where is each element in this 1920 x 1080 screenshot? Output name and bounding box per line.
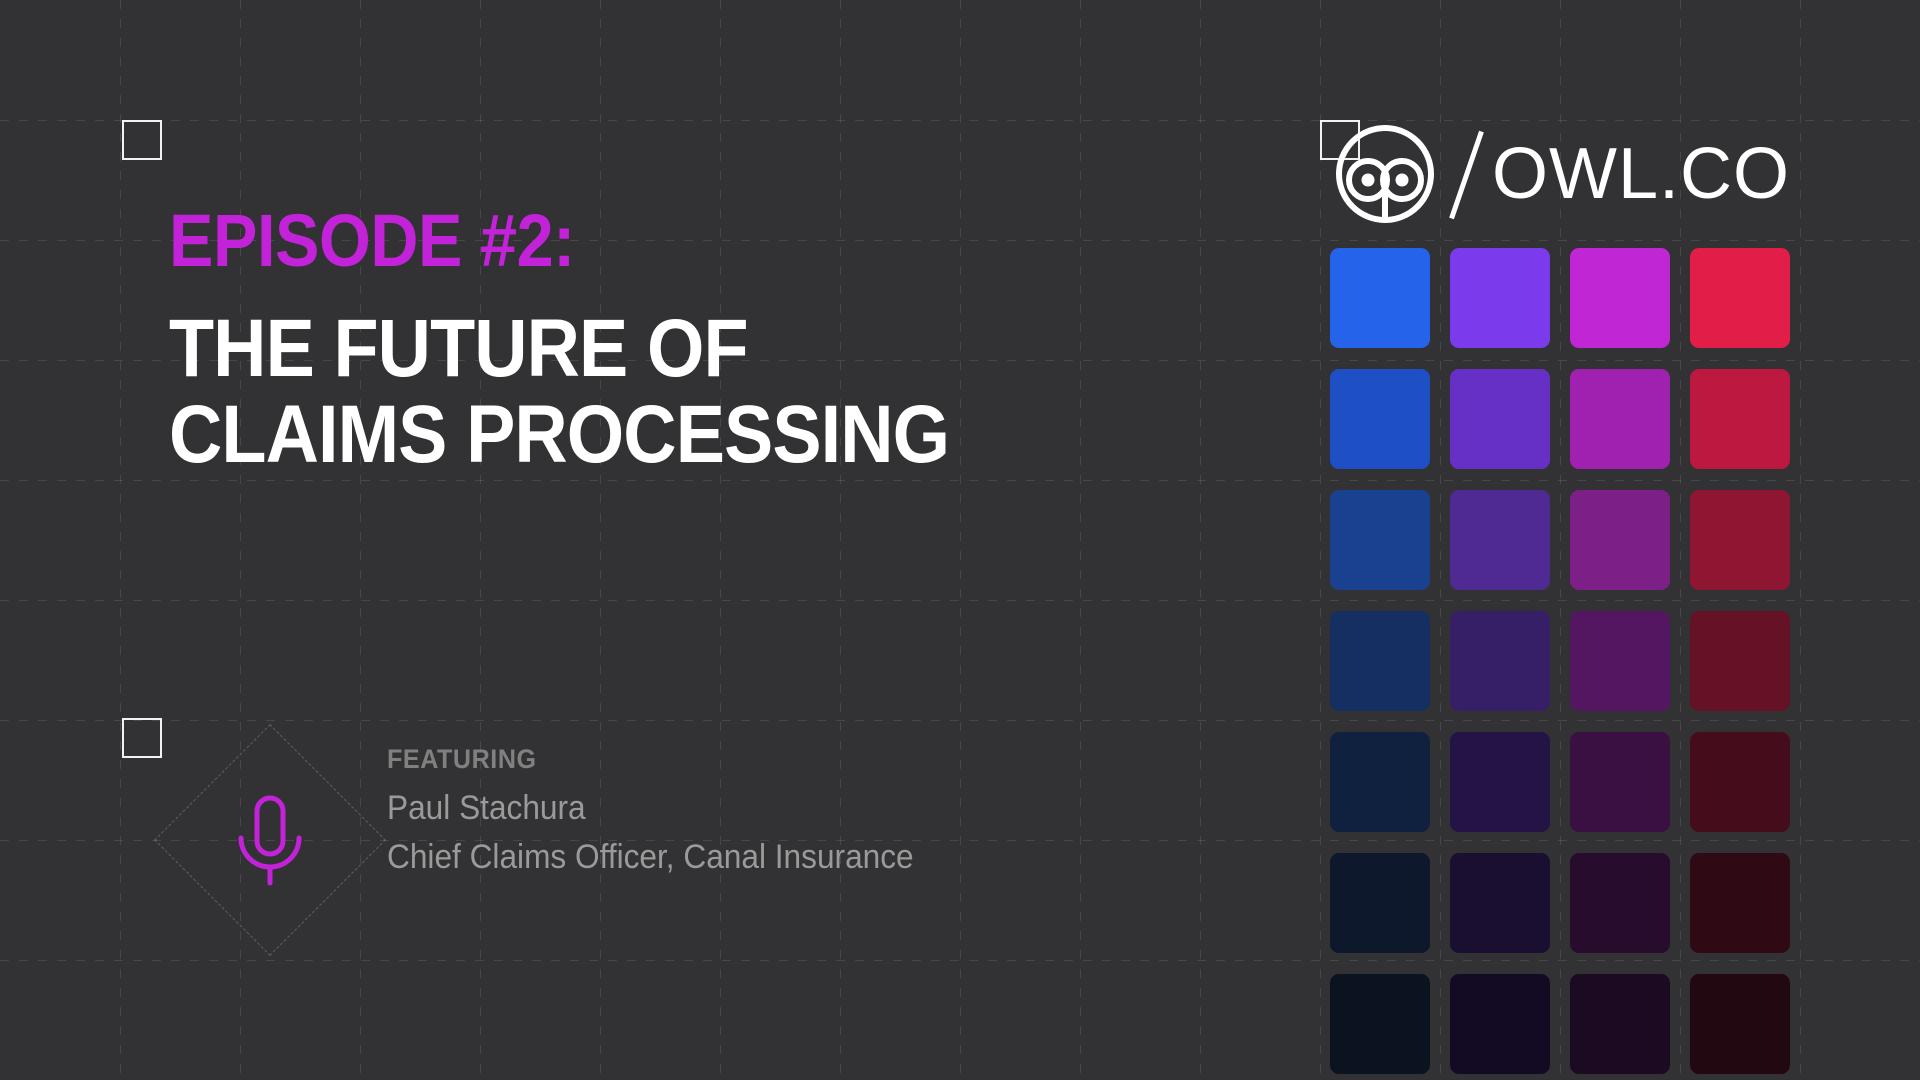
color-swatch-purple-5 <box>1450 732 1550 832</box>
title-text-group: EPISODE #2: THE FUTURE OF CLAIMS PROCESS… <box>169 205 1179 479</box>
color-swatch-grid <box>1330 248 1800 1074</box>
bracket-featuring-top-left <box>122 718 162 758</box>
color-swatch-red-1 <box>1690 248 1790 348</box>
color-swatch-purple-3 <box>1450 490 1550 590</box>
color-swatch-purple-6 <box>1450 853 1550 953</box>
color-swatch-magenta-1 <box>1570 248 1670 348</box>
color-swatch-red-4 <box>1690 611 1790 711</box>
color-swatch-blue-5 <box>1330 732 1430 832</box>
bracket-featuring-bottom-right <box>122 718 162 758</box>
grid-line-vertical <box>1800 0 1801 1080</box>
bracket-title-bottom-left <box>122 120 162 160</box>
color-swatch-red-7 <box>1690 974 1790 1074</box>
logo-slash-icon <box>1436 123 1496 225</box>
speaker-name: Paul Stachura <box>387 789 914 828</box>
logo-block: OWL.CO <box>1320 120 1800 246</box>
color-swatch-blue-4 <box>1330 611 1430 711</box>
featuring-label: FEATURING <box>387 744 914 775</box>
slide-canvas: EPISODE #2: THE FUTURE OF CLAIMS PROCESS… <box>0 0 1920 1080</box>
title-block: EPISODE #2: THE FUTURE OF CLAIMS PROCESS… <box>122 120 1202 598</box>
bracket-title-top-left <box>122 120 162 160</box>
color-swatch-magenta-6 <box>1570 853 1670 953</box>
color-swatch-purple-1 <box>1450 248 1550 348</box>
page-title-line-2: CLAIMS PROCESSING <box>169 392 1078 479</box>
color-swatch-blue-1 <box>1330 248 1430 348</box>
bracket-featuring-bottom-left <box>122 718 162 758</box>
color-swatch-purple-7 <box>1450 974 1550 1074</box>
featuring-block: FEATURING Paul Stachura Chief Claims Off… <box>122 718 1202 960</box>
color-swatch-magenta-3 <box>1570 490 1670 590</box>
color-swatch-red-2 <box>1690 369 1790 469</box>
color-swatch-magenta-2 <box>1570 369 1670 469</box>
featuring-text-group: FEATURING Paul Stachura Chief Claims Off… <box>387 744 953 877</box>
episode-label: EPISODE #2: <box>169 205 1078 278</box>
color-swatch-red-6 <box>1690 853 1790 953</box>
bracket-featuring-top-right <box>122 718 162 758</box>
color-swatch-magenta-5 <box>1570 732 1670 832</box>
microphone-icon <box>227 792 313 888</box>
color-swatch-purple-4 <box>1450 611 1550 711</box>
color-swatch-blue-6 <box>1330 853 1430 953</box>
color-swatch-purple-2 <box>1450 369 1550 469</box>
color-swatch-red-3 <box>1690 490 1790 590</box>
color-swatch-magenta-4 <box>1570 611 1670 711</box>
logo-lockup: OWL.CO <box>1334 123 1790 225</box>
logo-wordmark: OWL.CO <box>1492 138 1790 210</box>
color-swatch-blue-7 <box>1330 974 1430 1074</box>
page-title-line-1: THE FUTURE OF <box>169 306 1078 393</box>
color-swatch-blue-2 <box>1330 369 1430 469</box>
color-swatch-magenta-7 <box>1570 974 1670 1074</box>
color-swatch-blue-3 <box>1330 490 1430 590</box>
speaker-role: Chief Claims Officer, Canal Insurance <box>387 838 914 877</box>
color-swatch-red-5 <box>1690 732 1790 832</box>
microphone-badge <box>174 744 366 936</box>
bracket-title-top-right <box>122 120 162 160</box>
grid-line-vertical <box>120 0 121 1080</box>
owl-face-icon <box>1334 123 1436 225</box>
bracket-title-bottom-right <box>122 120 162 160</box>
